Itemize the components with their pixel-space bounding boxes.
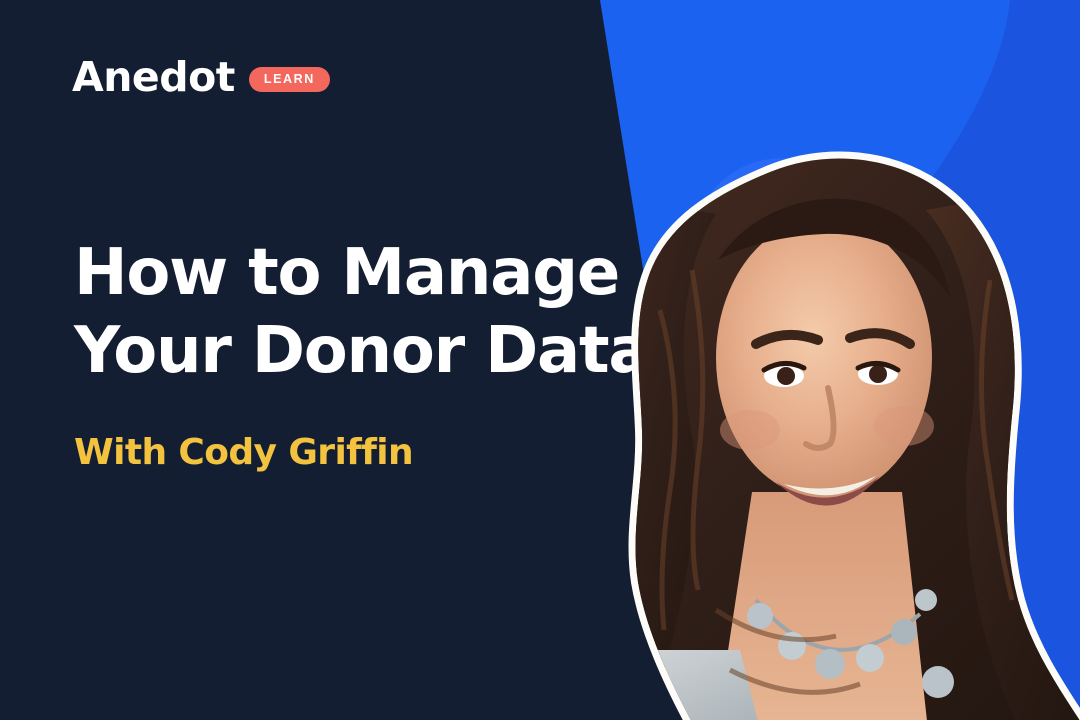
portrait-photo [520, 130, 1080, 720]
anedot-logo-lockup[interactable]: Anedot LEARN [72, 57, 330, 98]
face-shape [716, 218, 932, 498]
presenter-portrait [520, 130, 1080, 720]
anedot-wordmark: Anedot [72, 57, 235, 98]
learn-badge: LEARN [249, 67, 330, 92]
video-thumbnail-canvas: Anedot LEARN How to Manage Your Donor Da… [0, 0, 1080, 720]
cheek-right [874, 406, 934, 446]
iris-left [777, 367, 795, 385]
cheek-left [720, 410, 780, 450]
iris-right [869, 365, 887, 383]
